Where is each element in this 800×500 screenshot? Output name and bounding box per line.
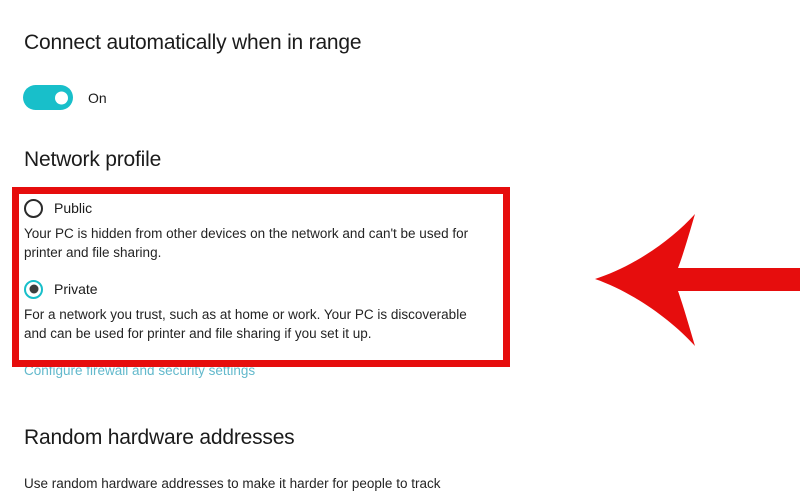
connect-automatically-toggle-row[interactable]: On xyxy=(24,86,107,109)
radio-button-private-icon[interactable] xyxy=(24,280,43,299)
radio-label-private: Private xyxy=(54,281,98,297)
radio-description-private: For a network you trust, such as at home… xyxy=(24,305,492,343)
arrow-annotation xyxy=(590,212,800,348)
radio-description-public: Your PC is hidden from other devices on … xyxy=(24,224,492,262)
radio-button-public-icon[interactable] xyxy=(24,199,43,218)
radio-line-private[interactable]: Private xyxy=(24,279,494,299)
page-title-random-hardware-addresses: Random hardware addresses xyxy=(24,426,294,450)
radio-option-public[interactable]: Public Your PC is hidden from other devi… xyxy=(24,198,494,262)
random-hardware-addresses-description: Use random hardware addresses to make it… xyxy=(24,474,440,494)
toggle-knob xyxy=(55,91,68,104)
connect-automatically-toggle[interactable] xyxy=(24,86,72,109)
radio-option-private[interactable]: Private For a network you trust, such as… xyxy=(24,279,494,343)
settings-page: Connect automatically when in range On N… xyxy=(0,0,800,500)
radio-line-public[interactable]: Public xyxy=(24,198,494,218)
configure-firewall-link[interactable]: Configure firewall and security settings xyxy=(24,363,255,378)
page-title-connect-automatically: Connect automatically when in range xyxy=(24,31,361,55)
radio-label-public: Public xyxy=(54,200,92,216)
toggle-state-label: On xyxy=(88,90,107,106)
left-arrow-icon xyxy=(590,212,800,348)
page-title-network-profile: Network profile xyxy=(24,148,161,172)
network-profile-radio-group: Public Your PC is hidden from other devi… xyxy=(24,198,494,343)
